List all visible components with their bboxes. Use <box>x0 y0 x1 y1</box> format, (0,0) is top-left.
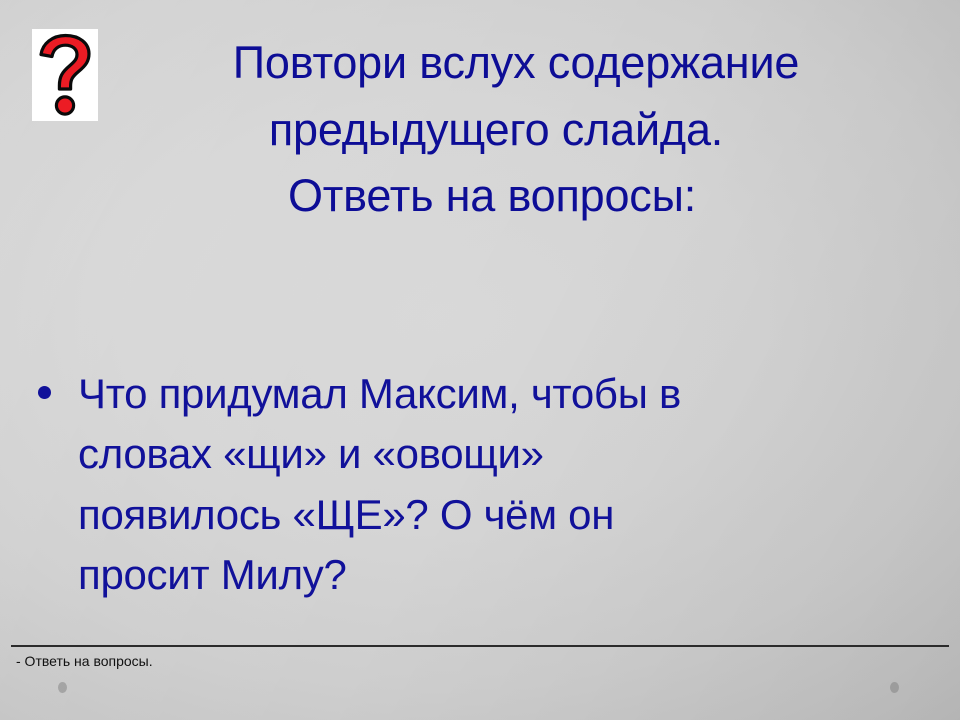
slide-title: Повтори вслух содержание предыдущего сла… <box>96 30 936 230</box>
title-line-2: предыдущего слайда. <box>56 97 936 164</box>
bullet-line-1: Что придумал Максим, чтобы в <box>78 364 936 424</box>
footer-note: - Ответь на вопросы. <box>16 652 153 670</box>
slide: Повтори вслух содержание предыдущего сла… <box>0 0 960 720</box>
decorative-dot-right <box>890 682 899 693</box>
list-item: Что придумал Максим, чтобы в словах «щи»… <box>16 364 936 606</box>
title-line-1: Повтори вслух содержание <box>96 30 936 97</box>
decorative-dot-left <box>58 682 67 693</box>
bullet-line-3: появилось «ЩЕ»? О чём он <box>78 485 936 545</box>
body-bullet-list: Что придумал Максим, чтобы в словах «щи»… <box>16 364 936 606</box>
title-line-3: Ответь на вопросы: <box>48 163 936 230</box>
bullet-dot-icon <box>38 386 51 399</box>
footer-divider <box>11 645 949 647</box>
bullet-line-2: словах «щи» и «овощи» <box>78 424 936 484</box>
bullet-line-4: просит Милу? <box>78 545 936 605</box>
